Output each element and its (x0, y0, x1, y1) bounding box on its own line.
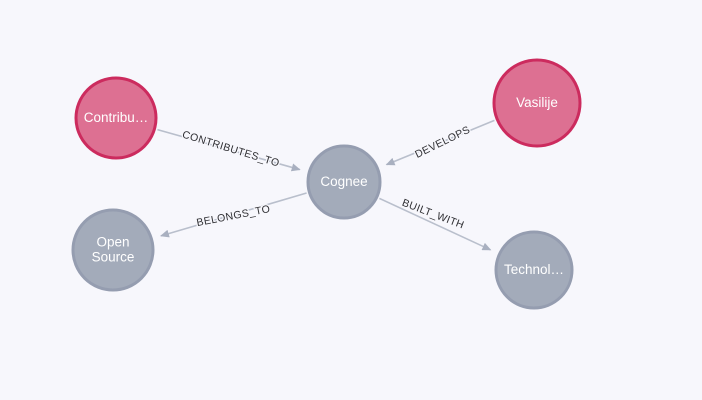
graph-edge-built-with[interactable] (379, 198, 490, 249)
node-label-vasilije: Vasilije (516, 95, 558, 110)
node-label-contributor: Contribu… (84, 110, 149, 125)
node-label-technology: Technol… (504, 262, 564, 277)
node-label-open_source: OpenSource (92, 234, 135, 264)
graph-canvas[interactable]: Contribu…VasilijeCogneeOpenSourceTechnol… (0, 0, 702, 400)
edge-label-belongs-to: BELONGS_TO (195, 203, 271, 229)
graph-node-open_source[interactable]: OpenSource (73, 210, 153, 290)
graph-svg[interactable]: Contribu…VasilijeCogneeOpenSourceTechnol… (0, 0, 702, 400)
nodes-layer: Contribu…VasilijeCogneeOpenSourceTechnol… (73, 60, 580, 308)
edge-label-develops: DEVELOPS (413, 124, 472, 161)
node-label-cognee: Cognee (320, 174, 367, 189)
graph-node-vasilije[interactable]: Vasilije (494, 60, 580, 146)
graph-node-technology[interactable]: Technol… (496, 232, 572, 308)
graph-node-cognee[interactable]: Cognee (308, 146, 380, 218)
edge-label-contributes-to: CONTRIBUTES_TO (181, 129, 281, 170)
graph-node-contributor[interactable]: Contribu… (76, 78, 156, 158)
edge-label-built-with: BUILT_WITH (400, 197, 466, 232)
